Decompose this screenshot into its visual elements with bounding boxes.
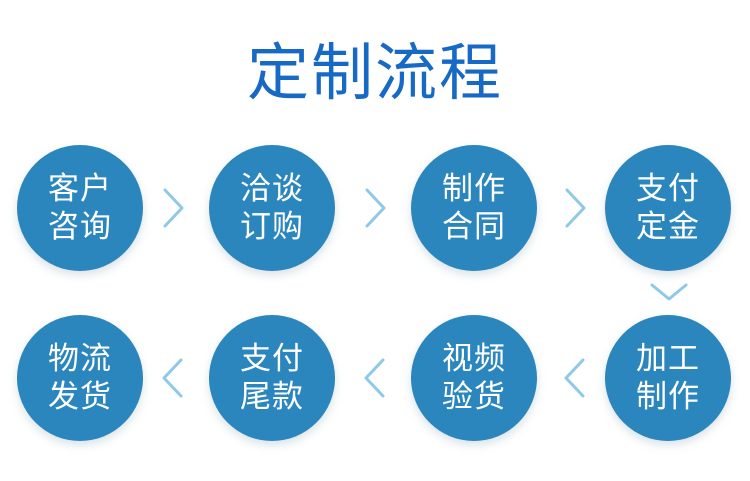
flow-step-2-line1: 洽谈 xyxy=(240,170,304,208)
customization-flow-diagram: 定制流程 客户 咨询 洽谈 订购 制作 合同 xyxy=(0,0,750,481)
page-title: 定制流程 xyxy=(0,36,750,112)
flow-step-1-line1: 客户 xyxy=(48,170,112,208)
chevron-left-icon xyxy=(156,352,190,404)
chevron-left-icon xyxy=(358,352,392,404)
flow-step-4-line2: 定金 xyxy=(636,208,700,246)
flow-step-7-line1: 支付 xyxy=(240,340,304,378)
chevron-down-icon xyxy=(645,279,693,305)
flow-step-2-line2: 订购 xyxy=(240,208,304,246)
chevron-right-icon xyxy=(358,182,392,234)
flow-step-4-pay-deposit[interactable]: 支付 定金 xyxy=(605,145,731,271)
flow-step-6-video-inspection[interactable]: 视频 验货 xyxy=(411,315,537,441)
chevron-right-icon xyxy=(156,182,190,234)
flow-step-5-processing-production[interactable]: 加工 制作 xyxy=(605,315,731,441)
flow-step-1-line2: 咨询 xyxy=(48,208,112,246)
flow-step-5-line1: 加工 xyxy=(636,340,700,378)
chevron-right-icon xyxy=(558,182,592,234)
flow-step-8-line2: 发货 xyxy=(48,378,112,416)
chevron-left-icon xyxy=(558,352,592,404)
flow-step-8-logistics-shipping[interactable]: 物流 发货 xyxy=(17,315,143,441)
flow-step-4-line1: 支付 xyxy=(636,170,700,208)
flow-step-3-line2: 合同 xyxy=(442,208,506,246)
flow-row-top: 客户 咨询 洽谈 订购 制作 合同 支付 定金 xyxy=(0,145,750,275)
flow-step-3-make-contract[interactable]: 制作 合同 xyxy=(411,145,537,271)
flow-step-1-customer-inquiry[interactable]: 客户 咨询 xyxy=(17,145,143,271)
flow-step-7-pay-balance[interactable]: 支付 尾款 xyxy=(209,315,335,441)
flow-step-2-negotiate-order[interactable]: 洽谈 订购 xyxy=(209,145,335,271)
flow-step-8-line1: 物流 xyxy=(48,340,112,378)
flow-step-6-line2: 验货 xyxy=(442,378,506,416)
flow-step-5-line2: 制作 xyxy=(636,378,700,416)
flow-step-6-line1: 视频 xyxy=(442,340,506,378)
flow-step-7-line2: 尾款 xyxy=(240,378,304,416)
flow-row-bottom: 物流 发货 支付 尾款 视频 验货 加工 制作 xyxy=(0,315,750,445)
flow-step-3-line1: 制作 xyxy=(442,170,506,208)
